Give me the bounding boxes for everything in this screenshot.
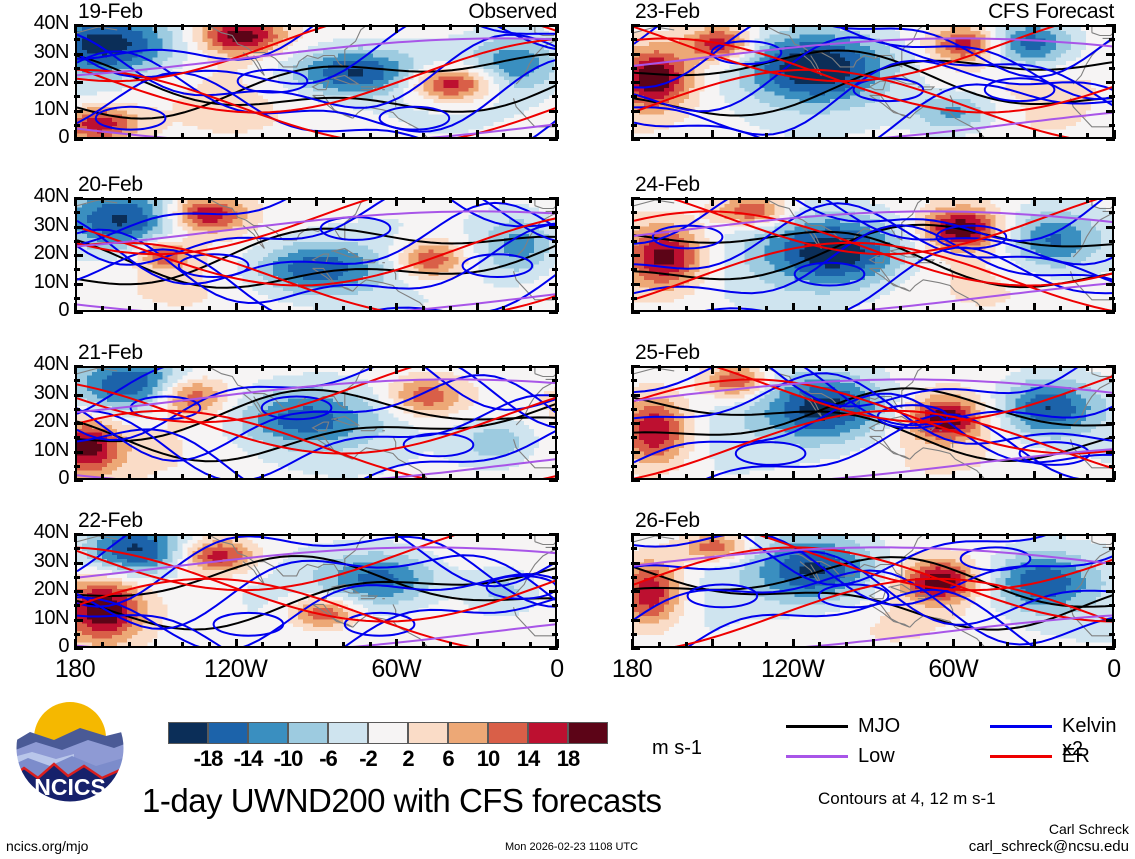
y-axis-label: 0 (3, 126, 69, 149)
legend-line-er (990, 755, 1052, 758)
x-tick (261, 365, 264, 371)
x-tick (765, 306, 768, 312)
y-tick (74, 619, 83, 622)
x-tick (738, 365, 741, 371)
x-tick (711, 24, 714, 33)
x-tick (288, 533, 291, 539)
x-tick (872, 471, 875, 480)
y-tick-minor (631, 124, 637, 127)
site-url[interactable]: ncics.org/mjo (6, 838, 88, 854)
x-tick (1113, 471, 1116, 480)
y-axis-label: 30N (3, 41, 69, 64)
x-tick (792, 639, 795, 648)
x-tick (1113, 197, 1116, 206)
x-axis-label: 120W (733, 655, 853, 684)
x-tick (154, 24, 157, 33)
y-tick-minor (631, 576, 637, 579)
x-tick (1086, 642, 1089, 648)
x-tick (926, 642, 929, 648)
y-tick (631, 451, 640, 454)
x-tick (315, 130, 318, 139)
x-tick (979, 24, 982, 30)
y-axis-label: 40N (3, 12, 69, 35)
x-tick (738, 24, 741, 30)
y-tick-minor (74, 240, 80, 243)
x-tick (926, 24, 929, 30)
x-tick (556, 303, 559, 312)
panel-date-label: 21-Feb (78, 341, 143, 365)
x-tick (181, 533, 184, 539)
x-tick (1033, 130, 1036, 139)
x-tick (422, 24, 425, 30)
y-tick-minor (74, 604, 80, 607)
x-tick (395, 533, 398, 542)
x-tick (369, 306, 372, 312)
y-tick (549, 254, 558, 257)
map-panel[interactable] (632, 25, 1114, 139)
x-tick (235, 533, 238, 542)
x-tick (631, 639, 634, 648)
x-tick (658, 474, 661, 480)
x-tick (101, 197, 104, 203)
x-tick (872, 365, 875, 374)
colorbar-segment (328, 722, 368, 744)
x-tick (631, 365, 634, 374)
x-tick (979, 197, 982, 203)
logo-text: NCICS (34, 774, 106, 800)
x-tick (235, 365, 238, 374)
x-tick (288, 306, 291, 312)
x-tick (395, 303, 398, 312)
x-tick (631, 24, 634, 33)
x-tick (208, 24, 211, 30)
x-tick (1059, 642, 1062, 648)
y-tick (631, 53, 640, 56)
y-tick-minor (552, 604, 558, 607)
x-tick (845, 533, 848, 539)
y-tick (549, 394, 558, 397)
colorbar-segment (288, 722, 328, 744)
y-tick-minor (631, 604, 637, 607)
x-tick (952, 533, 955, 542)
x-tick (631, 533, 634, 542)
x-tick (556, 471, 559, 480)
colorbar-segment (248, 722, 288, 744)
y-axis-label: 0 (3, 467, 69, 490)
y-tick-minor (1109, 211, 1115, 214)
y-axis-label: 40N (3, 353, 69, 376)
panel-date-label: 22-Feb (78, 509, 143, 533)
y-tick (74, 451, 83, 454)
x-tick (1033, 533, 1036, 542)
y-tick-minor (552, 211, 558, 214)
x-tick (261, 642, 264, 648)
map-panel[interactable] (75, 25, 557, 139)
x-tick (899, 197, 902, 203)
x-tick (556, 130, 559, 139)
y-tick-minor (552, 379, 558, 382)
legend-line-low (786, 755, 848, 758)
x-tick (658, 306, 661, 312)
x-tick (1006, 197, 1009, 203)
x-tick (818, 197, 821, 203)
y-axis-label: 40N (3, 185, 69, 208)
x-tick (1059, 24, 1062, 30)
map-panel[interactable] (75, 534, 557, 648)
y-tick-minor (74, 95, 80, 98)
x-tick (128, 24, 131, 30)
y-tick-minor (1109, 547, 1115, 550)
y-tick-minor (74, 124, 80, 127)
x-tick (128, 306, 131, 312)
y-tick (631, 562, 640, 565)
x-tick (556, 639, 559, 648)
y-tick-minor (74, 268, 80, 271)
y-tick (631, 394, 640, 397)
y-axis-label: 20N (3, 410, 69, 433)
x-tick (979, 474, 982, 480)
y-tick-minor (552, 408, 558, 411)
y-tick-minor (1109, 95, 1115, 98)
y-tick (1106, 110, 1115, 113)
x-tick (711, 471, 714, 480)
x-tick (979, 642, 982, 648)
x-tick (529, 306, 532, 312)
legend-label: ER (1062, 745, 1090, 768)
colorbar-segment (408, 722, 448, 744)
ncics-logo: NCICS (10, 692, 130, 804)
x-tick (738, 133, 741, 139)
panel-date-label: 26-Feb (635, 509, 700, 533)
y-tick-minor (552, 633, 558, 636)
x-tick (128, 533, 131, 539)
y-tick (74, 110, 83, 113)
y-axis-label: 20N (3, 242, 69, 265)
y-tick-minor (552, 67, 558, 70)
panel-date-label: 24-Feb (635, 173, 700, 197)
x-tick (315, 533, 318, 542)
x-tick (261, 474, 264, 480)
y-tick-minor (631, 547, 637, 550)
x-tick (792, 533, 795, 542)
y-tick-minor (552, 297, 558, 300)
x-tick (1113, 533, 1116, 542)
x-tick (1086, 306, 1089, 312)
y-tick-minor (1109, 465, 1115, 468)
author-name: Carl Schreck (829, 821, 1129, 837)
x-tick (422, 474, 425, 480)
x-axis-label: 180 (15, 655, 135, 684)
x-tick (765, 197, 768, 203)
y-tick (549, 562, 558, 565)
x-tick (872, 533, 875, 542)
x-tick (899, 365, 902, 371)
x-tick (369, 642, 372, 648)
x-tick (818, 24, 821, 30)
x-tick (449, 306, 452, 312)
y-tick (1106, 283, 1115, 286)
x-tick (556, 533, 559, 542)
y-tick (74, 53, 83, 56)
x-tick (872, 197, 875, 206)
y-tick-minor (552, 436, 558, 439)
y-axis-label: 0 (3, 299, 69, 322)
y-tick-minor (74, 408, 80, 411)
x-tick (476, 471, 479, 480)
y-tick (549, 110, 558, 113)
panel-date-label: 23-Feb (635, 0, 700, 24)
x-tick (765, 133, 768, 139)
column-header-forecast: CFS Forecast (914, 0, 1114, 24)
x-tick (926, 533, 929, 539)
x-tick (899, 24, 902, 30)
x-tick (128, 642, 131, 648)
timestamp: Mon 2026-02-23 1108 UTC (505, 841, 638, 853)
y-tick-minor (552, 95, 558, 98)
y-tick-minor (74, 38, 80, 41)
x-tick (792, 130, 795, 139)
y-tick-minor (1109, 576, 1115, 579)
y-tick (549, 53, 558, 56)
x-tick (449, 642, 452, 648)
x-tick (261, 133, 264, 139)
x-tick (369, 365, 372, 371)
y-axis-label: 20N (3, 69, 69, 92)
x-tick (738, 642, 741, 648)
y-tick-minor (631, 268, 637, 271)
x-tick (685, 533, 688, 539)
x-tick (181, 197, 184, 203)
x-tick (952, 303, 955, 312)
x-tick (288, 474, 291, 480)
y-tick (549, 590, 558, 593)
x-tick (449, 197, 452, 203)
x-tick (181, 642, 184, 648)
x-tick (288, 642, 291, 648)
y-tick-minor (631, 95, 637, 98)
x-tick (235, 471, 238, 480)
x-tick (765, 642, 768, 648)
x-tick (369, 474, 372, 480)
map-panel[interactable] (632, 366, 1114, 480)
x-tick (74, 471, 77, 480)
x-tick (1006, 24, 1009, 30)
x-tick (979, 133, 982, 139)
x-axis-label: 180 (572, 655, 692, 684)
y-tick (1106, 619, 1115, 622)
x-tick (342, 365, 345, 371)
y-tick-minor (1109, 38, 1115, 41)
y-tick (549, 81, 558, 84)
x-tick (476, 639, 479, 648)
x-tick (845, 24, 848, 30)
x-tick (422, 197, 425, 203)
x-tick (529, 642, 532, 648)
y-tick-minor (74, 379, 80, 382)
x-tick (181, 474, 184, 480)
map-panel[interactable] (75, 198, 557, 312)
x-tick (395, 365, 398, 374)
x-tick (1086, 133, 1089, 139)
x-tick (952, 365, 955, 374)
x-tick (631, 471, 634, 480)
x-tick (342, 533, 345, 539)
x-tick (926, 365, 929, 371)
x-tick (369, 24, 372, 30)
x-tick (502, 306, 505, 312)
x-tick (235, 197, 238, 206)
x-tick (208, 306, 211, 312)
x-tick (556, 24, 559, 33)
x-tick (1033, 639, 1036, 648)
x-tick (502, 365, 505, 371)
author-email[interactable]: carl_schreck@ncsu.edu (809, 838, 1129, 855)
y-tick (631, 81, 640, 84)
legend-label: MJO (858, 715, 900, 738)
x-tick (899, 306, 902, 312)
x-tick (899, 474, 902, 480)
y-tick-minor (1109, 67, 1115, 70)
x-tick (1059, 474, 1062, 480)
x-tick (872, 639, 875, 648)
x-tick (476, 365, 479, 374)
x-tick (711, 365, 714, 374)
x-tick (449, 24, 452, 30)
x-tick (449, 533, 452, 539)
x-tick (1006, 365, 1009, 371)
y-tick (74, 394, 83, 397)
y-axis-label: 10N (3, 98, 69, 121)
legend-label: Low (858, 745, 895, 768)
column-header-observed: Observed (357, 0, 557, 24)
y-tick-minor (552, 268, 558, 271)
y-tick-minor (1109, 124, 1115, 127)
x-tick (818, 533, 821, 539)
x-tick (1006, 642, 1009, 648)
map-panel[interactable] (632, 534, 1114, 648)
y-tick (1106, 254, 1115, 257)
x-tick (818, 133, 821, 139)
x-axis-label: 60W (893, 655, 1013, 684)
y-tick-minor (1109, 379, 1115, 382)
x-tick (261, 306, 264, 312)
x-tick (738, 474, 741, 480)
x-tick (422, 133, 425, 139)
x-tick (395, 197, 398, 206)
x-tick (1033, 471, 1036, 480)
y-tick (74, 81, 83, 84)
x-tick (738, 197, 741, 203)
x-tick (899, 533, 902, 539)
x-tick (154, 471, 157, 480)
x-tick (1086, 474, 1089, 480)
y-tick-minor (631, 211, 637, 214)
x-tick (979, 306, 982, 312)
x-tick (765, 533, 768, 539)
x-tick (235, 130, 238, 139)
x-tick (818, 306, 821, 312)
x-tick (926, 474, 929, 480)
y-axis-label: 30N (3, 382, 69, 405)
x-tick (476, 533, 479, 542)
y-tick-minor (631, 297, 637, 300)
x-tick (658, 197, 661, 203)
y-tick-minor (74, 633, 80, 636)
x-tick (128, 474, 131, 480)
x-tick (315, 24, 318, 33)
y-tick-minor (1109, 633, 1115, 636)
x-tick (315, 303, 318, 312)
x-tick (845, 474, 848, 480)
x-tick (845, 365, 848, 371)
x-tick (288, 365, 291, 371)
y-tick-minor (631, 67, 637, 70)
y-tick (1106, 562, 1115, 565)
x-tick (899, 642, 902, 648)
x-tick (685, 133, 688, 139)
x-tick (101, 533, 104, 539)
y-tick (631, 110, 640, 113)
y-tick-minor (631, 38, 637, 41)
y-tick (74, 590, 83, 593)
x-tick (154, 533, 157, 542)
x-tick (154, 130, 157, 139)
y-axis-label: 30N (3, 214, 69, 237)
panel-date-label: 19-Feb (78, 0, 143, 24)
y-tick (74, 226, 83, 229)
map-panel[interactable] (75, 366, 557, 480)
x-tick (1006, 133, 1009, 139)
y-tick-minor (552, 38, 558, 41)
y-tick (631, 590, 640, 593)
y-tick-minor (1109, 436, 1115, 439)
x-tick (818, 642, 821, 648)
x-tick (208, 133, 211, 139)
x-tick (1033, 303, 1036, 312)
x-tick (818, 365, 821, 371)
x-tick (128, 365, 131, 371)
y-axis-label: 10N (3, 271, 69, 294)
figure-title: 1-day UWND200 with CFS forecasts (142, 782, 662, 820)
y-tick (1106, 422, 1115, 425)
x-tick (476, 303, 479, 312)
x-tick (529, 24, 532, 30)
map-panel[interactable] (632, 198, 1114, 312)
x-tick (529, 197, 532, 203)
x-tick (476, 130, 479, 139)
x-tick (128, 197, 131, 203)
x-tick (711, 533, 714, 542)
y-tick-minor (74, 465, 80, 468)
x-tick (181, 24, 184, 30)
x-tick (685, 197, 688, 203)
x-tick (1006, 306, 1009, 312)
x-tick (658, 642, 661, 648)
x-tick (315, 471, 318, 480)
x-tick (765, 24, 768, 30)
x-tick (261, 24, 264, 30)
y-axis-label: 30N (3, 550, 69, 573)
x-tick (1059, 197, 1062, 203)
x-tick (261, 197, 264, 203)
x-tick (631, 197, 634, 206)
y-tick-minor (552, 124, 558, 127)
colorbar-segment (568, 722, 608, 744)
x-tick (792, 197, 795, 206)
x-axis-label: 120W (176, 655, 296, 684)
x-tick (1059, 133, 1062, 139)
y-tick-minor (1109, 604, 1115, 607)
